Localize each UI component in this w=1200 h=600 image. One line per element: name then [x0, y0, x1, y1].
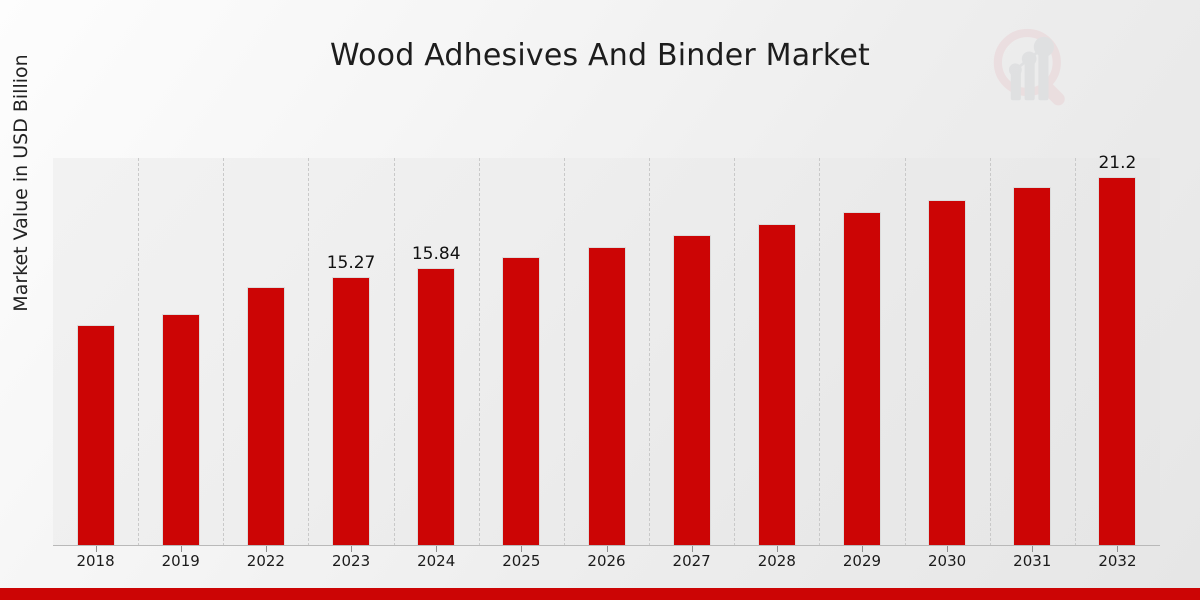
x-tick-label-2026: 2026 — [567, 552, 647, 570]
x-tick-label-2032: 2032 — [1077, 552, 1157, 570]
bar-value-label-2032: 21.2 — [1077, 153, 1157, 173]
x-tick-label-2024: 2024 — [396, 552, 476, 570]
gridline — [479, 158, 481, 546]
footer-band — [0, 588, 1200, 600]
gridline — [138, 158, 140, 546]
x-tick-label-2030: 2030 — [907, 552, 987, 570]
gridline — [1075, 158, 1077, 546]
gridline — [308, 158, 310, 546]
market-research-magnifier-logo-icon — [985, 22, 1077, 114]
gridline — [394, 158, 396, 546]
x-tick-label-2025: 2025 — [481, 552, 561, 570]
plot-area: 15.2715.8421.2 — [53, 158, 1160, 546]
gridline — [905, 158, 907, 546]
bar-2027[interactable] — [673, 235, 711, 546]
gridline — [223, 158, 225, 546]
bar-2028[interactable] — [758, 224, 796, 546]
x-tick-label-2028: 2028 — [737, 552, 817, 570]
bar-value-label-2023: 15.27 — [311, 253, 391, 273]
gridline — [564, 158, 566, 546]
bar-2029[interactable] — [843, 212, 881, 546]
bar-2025[interactable] — [502, 257, 540, 546]
bar-2031[interactable] — [1013, 187, 1051, 546]
bar-2024[interactable] — [417, 268, 455, 546]
x-tick-label-2029: 2029 — [822, 552, 902, 570]
x-tick-label-2018: 2018 — [56, 552, 136, 570]
chart-screenshot: Wood Adhesives And Binder Market Market … — [0, 0, 1200, 600]
x-tick-label-2022: 2022 — [226, 552, 306, 570]
bar-2032[interactable] — [1098, 177, 1136, 546]
bar-2030[interactable] — [928, 200, 966, 546]
x-tick-label-2027: 2027 — [652, 552, 732, 570]
x-tick-label-2019: 2019 — [141, 552, 221, 570]
gridline — [734, 158, 736, 546]
bar-2026[interactable] — [588, 247, 626, 546]
gridline — [819, 158, 821, 546]
bar-2023[interactable] — [332, 277, 370, 546]
x-tick-label-2031: 2031 — [992, 552, 1072, 570]
x-tick-label-2023: 2023 — [311, 552, 391, 570]
bar-2019[interactable] — [162, 314, 200, 546]
bar-value-label-2024: 15.84 — [396, 244, 476, 264]
gridline — [649, 158, 651, 546]
bar-2018[interactable] — [77, 325, 115, 546]
bar-2022[interactable] — [247, 287, 285, 546]
y-axis-label: Market Value in USD Billion — [10, 0, 36, 378]
gridline — [990, 158, 992, 546]
